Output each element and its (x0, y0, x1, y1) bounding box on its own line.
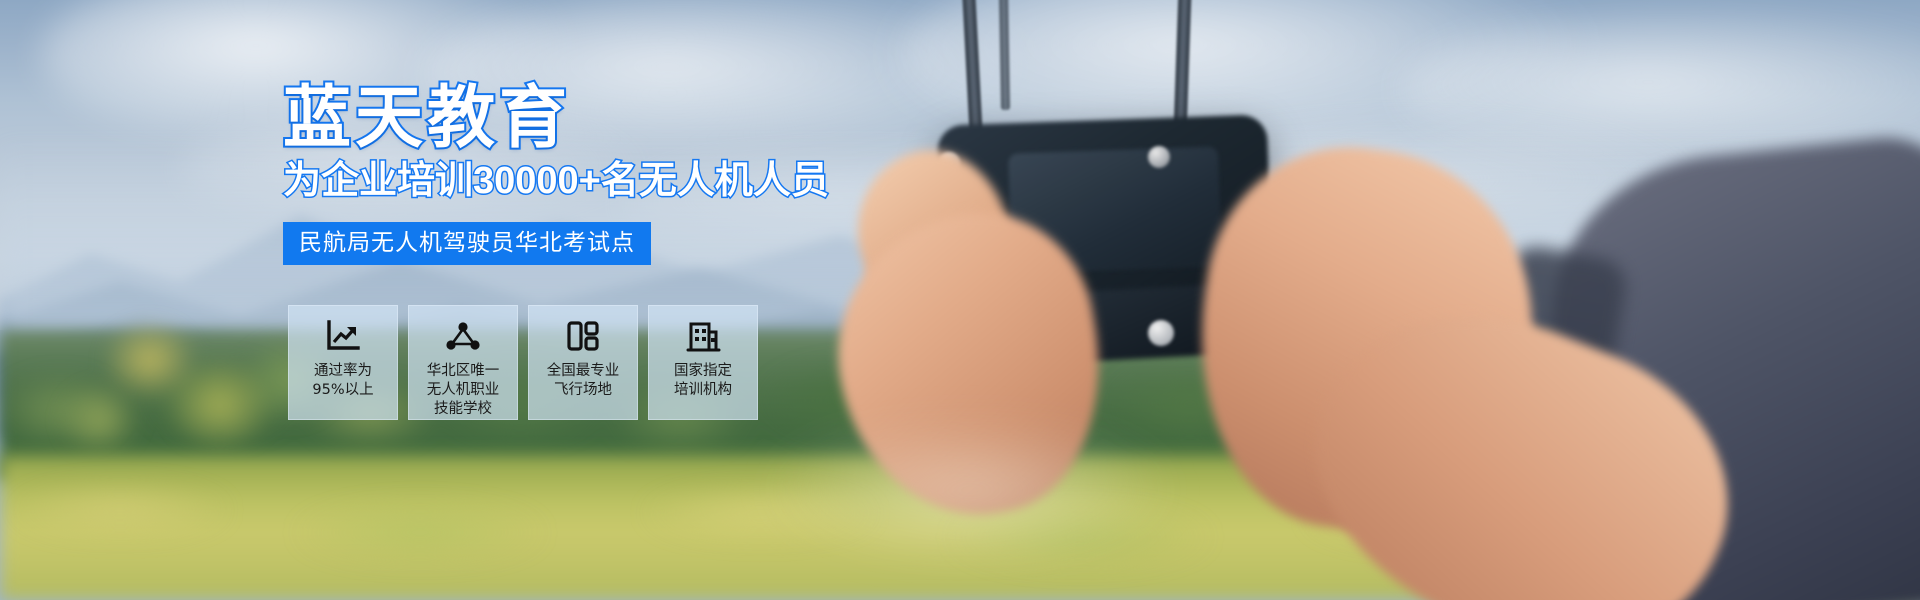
feature-card[interactable]: 华北区唯一 无人机职业 技能学校 (408, 305, 518, 420)
banner-subtitle: 为企业培训30000+名无人机人员 (283, 162, 829, 200)
feature-card-label: 通过率为 95%以上 (312, 362, 373, 400)
feature-card[interactable]: 通过率为 95%以上 (288, 305, 398, 420)
banner-content: 蓝天教育 为企业培训30000+名无人机人员 民航局无人机驾驶员华北考试点 通过… (0, 0, 1920, 600)
feature-card[interactable]: 国家指定 培训机构 (648, 305, 758, 420)
network-nodes-icon (445, 319, 481, 353)
banner-title: 蓝天教育 (283, 84, 571, 152)
feature-card-label: 国家指定 培训机构 (674, 362, 732, 400)
certification-badge: 民航局无人机驾驶员华北考试点 (283, 222, 651, 265)
building-blocks-icon (565, 319, 601, 353)
feature-card-label: 华北区唯一 无人机职业 技能学校 (427, 362, 500, 419)
chart-up-arrow-icon (325, 319, 361, 353)
feature-card[interactable]: 全国最专业 飞行场地 (528, 305, 638, 420)
feature-card-label: 全国最专业 飞行场地 (547, 362, 620, 400)
institution-building-icon (685, 319, 721, 353)
feature-card-list: 通过率为 95%以上 华北区唯一 无人机职业 技能学校 (288, 305, 758, 420)
